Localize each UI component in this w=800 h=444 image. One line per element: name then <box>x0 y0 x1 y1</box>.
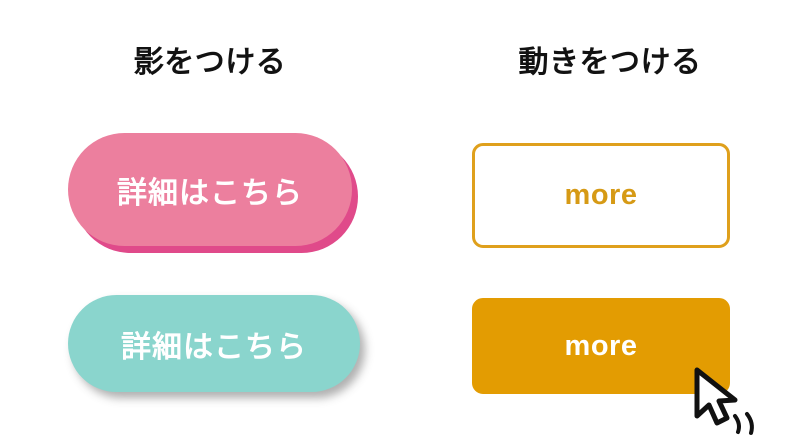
button-label: 詳細はこちら <box>117 168 303 212</box>
slide-canvas: 影をつける 動きをつける 詳細はこちら 詳細はこちら more more <box>0 0 800 444</box>
column-heading-shadow: 影をつける <box>0 48 420 78</box>
button-more-filled[interactable]: more <box>472 298 730 394</box>
button-label: more <box>565 330 638 363</box>
button-label: 詳細はこちら <box>121 322 307 366</box>
button-details-teal[interactable]: 詳細はこちら <box>68 295 360 392</box>
column-heading-motion: 動きをつける <box>400 48 800 78</box>
button-label: more <box>565 179 638 212</box>
button-details-pink[interactable]: 詳細はこちら <box>68 133 352 246</box>
button-more-outline[interactable]: more <box>472 143 730 248</box>
